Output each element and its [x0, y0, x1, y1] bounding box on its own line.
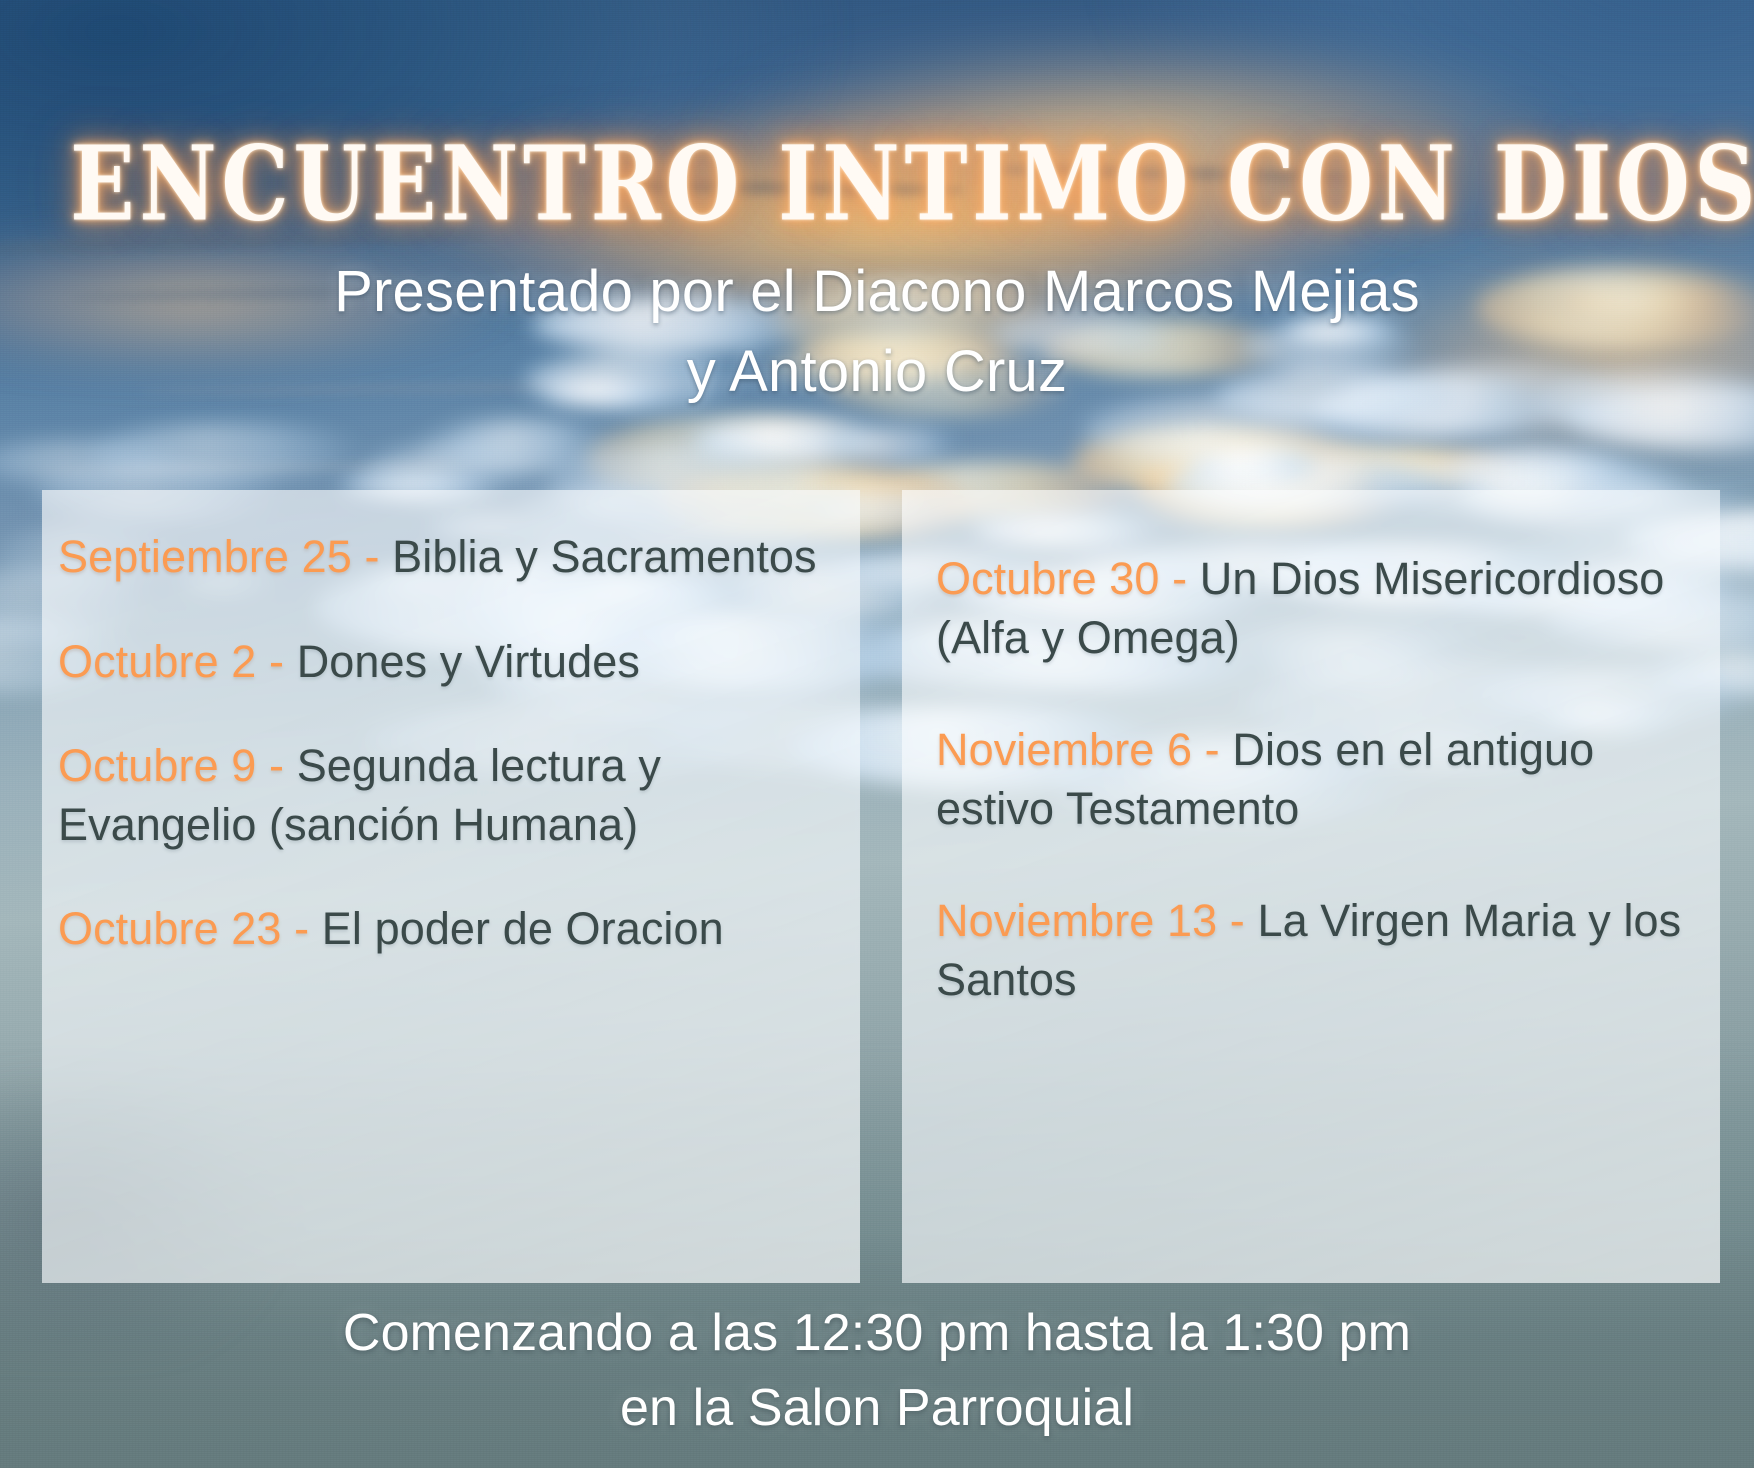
event-separator: - — [1160, 553, 1200, 604]
event-separator: - — [352, 531, 392, 582]
poster-content: ENCUENTRO INTIMO CON DIOS Presentado por… — [0, 0, 1754, 1468]
poster-canvas: ENCUENTRO INTIMO CON DIOS Presentado por… — [0, 0, 1754, 1468]
event-date: Octubre 30 — [936, 553, 1160, 604]
schedule-panels: Septiembre 25 - Biblia y Sacramentos Oct… — [42, 490, 1720, 1283]
schedule-item: Octubre 23 - El poder de Oracion — [58, 900, 832, 959]
presenter-line-2: y Antonio Cruz — [0, 332, 1754, 412]
event-date: Septiembre 25 — [58, 531, 352, 582]
event-logistics: Comenzando a las 12:30 pm hasta la 1:30 … — [0, 1296, 1754, 1446]
schedule-item: Octubre 30 - Un Dios Misericordioso (Alf… — [936, 550, 1694, 667]
schedule-item: Octubre 2 - Dones y Virtudes — [58, 633, 832, 692]
schedule-item: Noviembre 6 - Dios en el antiguo estivo … — [936, 721, 1694, 838]
presenter-line-1: Presentado por el Diacono Marcos Mejias — [0, 252, 1754, 332]
event-date: Octubre 2 — [58, 636, 256, 687]
footer-line-time: Comenzando a las 12:30 pm hasta la 1:30 … — [0, 1296, 1754, 1371]
event-date: Octubre 9 — [58, 740, 256, 791]
event-separator: - — [1217, 895, 1257, 946]
schedule-item: Noviembre 13 - La Virgen Maria y los San… — [936, 892, 1694, 1009]
event-separator: - — [256, 636, 296, 687]
schedule-item: Septiembre 25 - Biblia y Sacramentos — [58, 528, 832, 587]
schedule-panel-left: Septiembre 25 - Biblia y Sacramentos Oct… — [42, 490, 860, 1283]
schedule-item: Octubre 9 - Segunda lectura y Evangelio … — [58, 737, 832, 854]
event-date: Octubre 23 — [58, 903, 282, 954]
event-date: Noviembre 6 — [936, 724, 1192, 775]
poster-title: ENCUENTRO INTIMO CON DIOS — [70, 132, 1684, 237]
event-topic: Biblia y Sacramentos — [392, 531, 817, 582]
event-topic: Dones y Virtudes — [297, 636, 640, 687]
presenter-credit: Presentado por el Diacono Marcos Mejias … — [0, 252, 1754, 412]
event-date: Noviembre 13 — [936, 895, 1217, 946]
event-separator: - — [1192, 724, 1232, 775]
schedule-panel-right: Octubre 30 - Un Dios Misericordioso (Alf… — [902, 490, 1720, 1283]
event-separator: - — [256, 740, 296, 791]
footer-line-location: en la Salon Parroquial — [0, 1371, 1754, 1446]
event-separator: - — [282, 903, 322, 954]
event-topic: El poder de Oracion — [322, 903, 724, 954]
